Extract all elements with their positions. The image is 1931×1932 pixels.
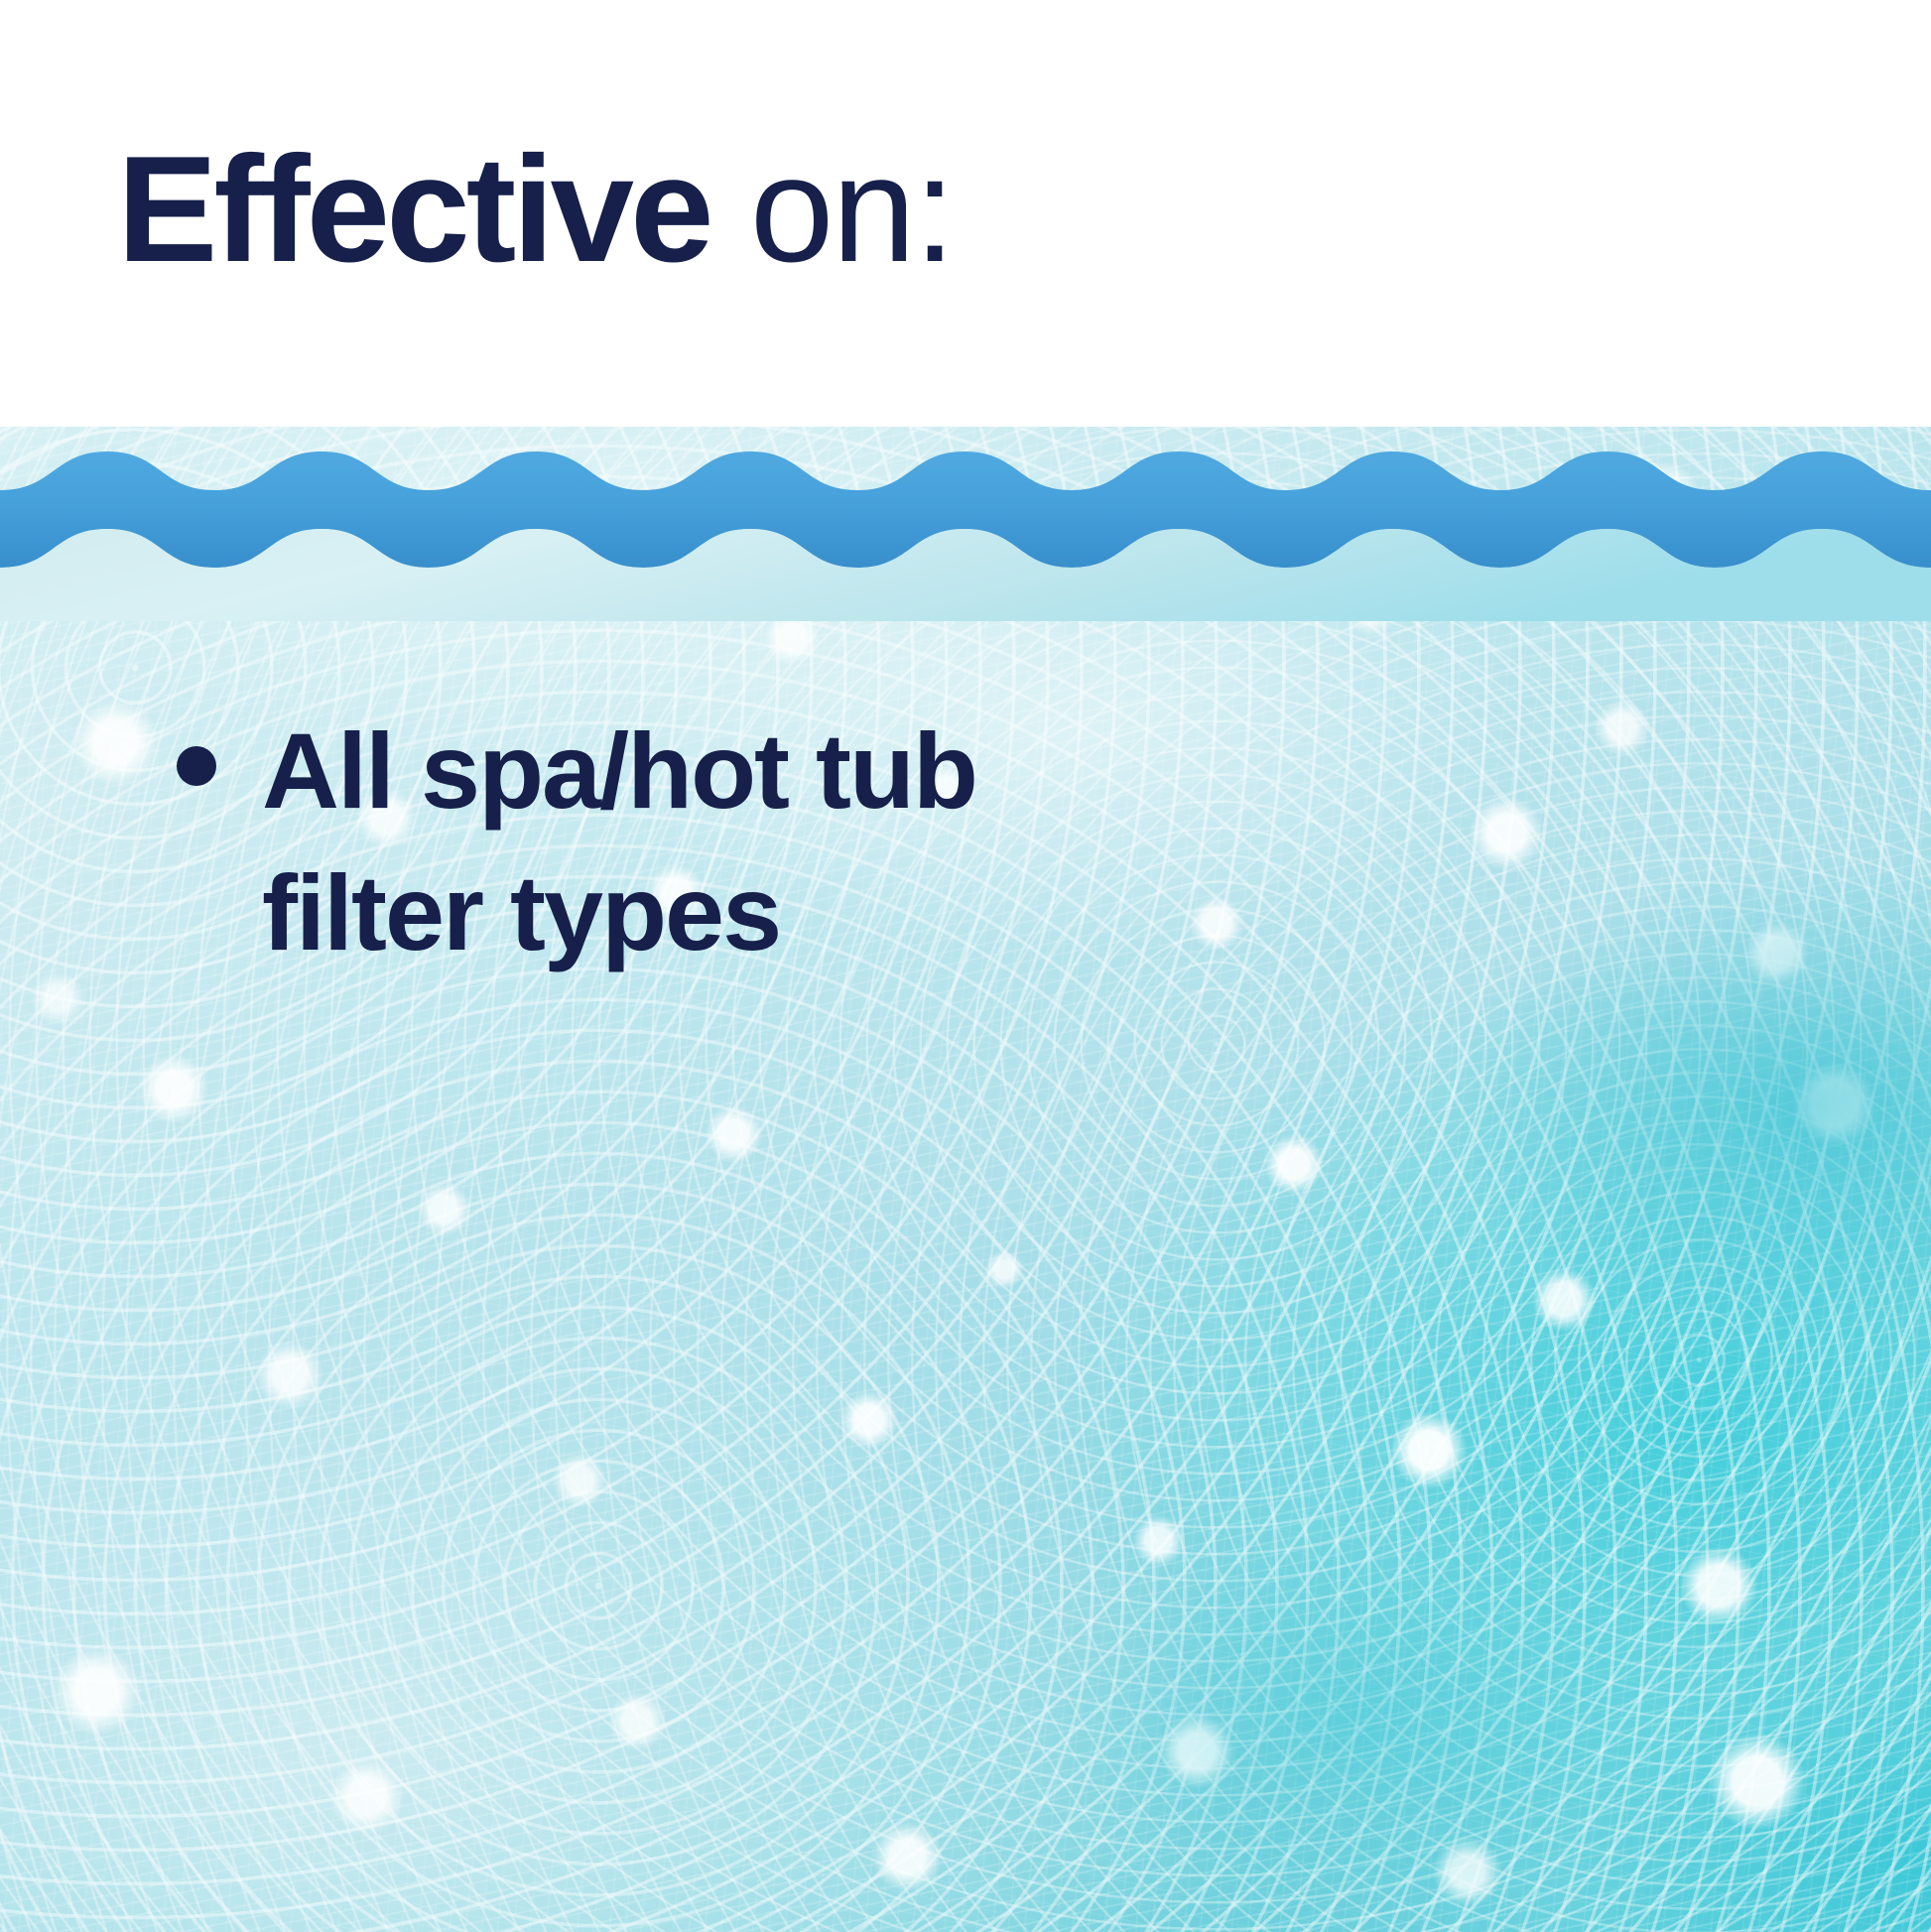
water-streaks-b xyxy=(0,427,1931,1932)
foam-layer-b xyxy=(0,427,1931,1932)
water-streaks-a xyxy=(0,427,1931,1932)
bullet-line-1: All spa/hot tub xyxy=(262,701,976,842)
foam-layer-c xyxy=(0,427,1931,1932)
page-title: Effective on: xyxy=(117,134,954,285)
foam-layer-a xyxy=(0,427,1931,1932)
list-item: All spa/hot tub filter types xyxy=(177,701,1268,983)
page-title-strong: Effective xyxy=(117,125,710,294)
water-photo-background xyxy=(0,427,1931,1932)
water-depth-wash xyxy=(0,427,1931,1932)
promo-card: Effective on: xyxy=(0,0,1931,1932)
bullet-line-2: filter types xyxy=(262,842,976,984)
page-title-light: on: xyxy=(710,125,955,294)
bullet-text: All spa/hot tub filter types xyxy=(262,701,976,983)
foam-layer-d xyxy=(0,427,1931,1932)
bullet-dot-icon xyxy=(177,746,216,786)
feature-bullet-list: All spa/hot tub filter types xyxy=(177,701,1268,983)
header-panel: Effective on: xyxy=(0,0,1931,397)
